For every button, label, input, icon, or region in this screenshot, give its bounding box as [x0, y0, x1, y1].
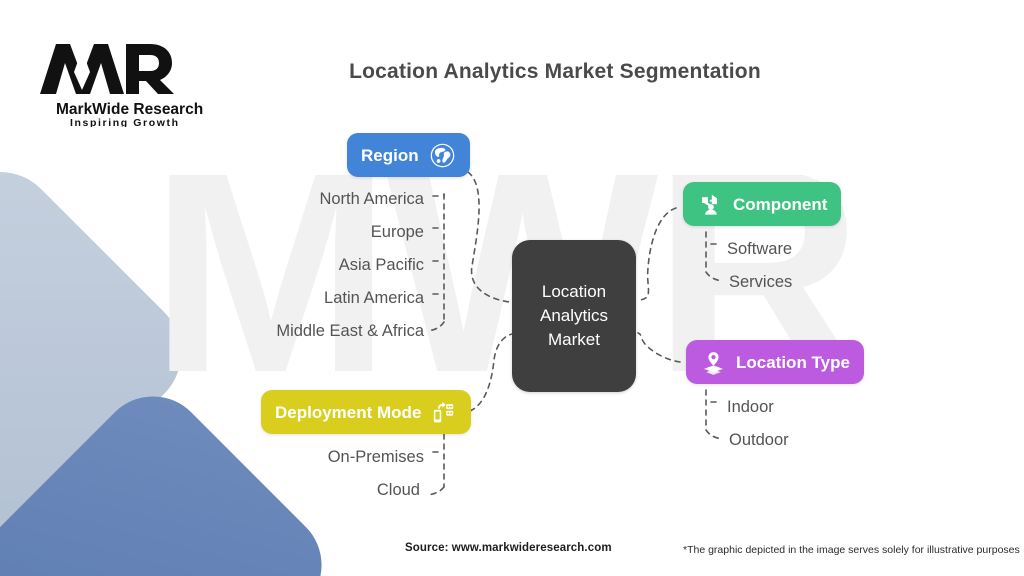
- leaf-component-1: Services: [729, 273, 792, 292]
- category-pill-region[interactable]: Region: [347, 133, 470, 177]
- source-text: Source: www.markwideresearch.com: [405, 542, 612, 554]
- category-label-component: Component: [733, 196, 827, 213]
- category-label-location-type: Location Type: [736, 354, 850, 371]
- category-label-region: Region: [361, 147, 419, 164]
- leaf-deployment-0: On-Premises: [134, 448, 424, 467]
- globe-icon: [429, 142, 456, 169]
- disclaimer-text: *The graphic depicted in the image serve…: [683, 544, 1020, 556]
- category-pill-location-type[interactable]: Location Type: [686, 340, 864, 384]
- map-pin-layers-icon: [700, 349, 727, 376]
- leaf-region-3: Latin America: [124, 289, 424, 308]
- leaf-region-4: Middle East & Africa: [104, 322, 424, 341]
- center-node-line-1: Location: [540, 280, 608, 304]
- leaf-location-type-1: Outdoor: [729, 431, 789, 450]
- infographic-canvas: MWR MarkWide Research Inspiring Growth L…: [0, 0, 1024, 576]
- leaf-location-type-0: Indoor: [727, 398, 774, 417]
- center-node-line-2: Analytics: [540, 304, 608, 328]
- leaf-region-2: Asia Pacific: [124, 256, 424, 275]
- category-label-deployment-mode: Deployment Mode: [275, 404, 421, 421]
- center-node-line-3: Market: [540, 328, 608, 352]
- leaf-component-0: Software: [727, 240, 792, 259]
- category-pill-component[interactable]: Component: [683, 182, 841, 226]
- leaf-region-0: North America: [124, 190, 424, 209]
- center-node: Location Analytics Market: [512, 240, 636, 392]
- category-pill-deployment-mode[interactable]: Deployment Mode: [261, 390, 471, 434]
- leaf-deployment-1: Cloud: [134, 481, 420, 500]
- leaf-region-1: Europe: [124, 223, 424, 242]
- sitemap-icon: [697, 191, 724, 218]
- mobile-server-icon: [430, 399, 457, 426]
